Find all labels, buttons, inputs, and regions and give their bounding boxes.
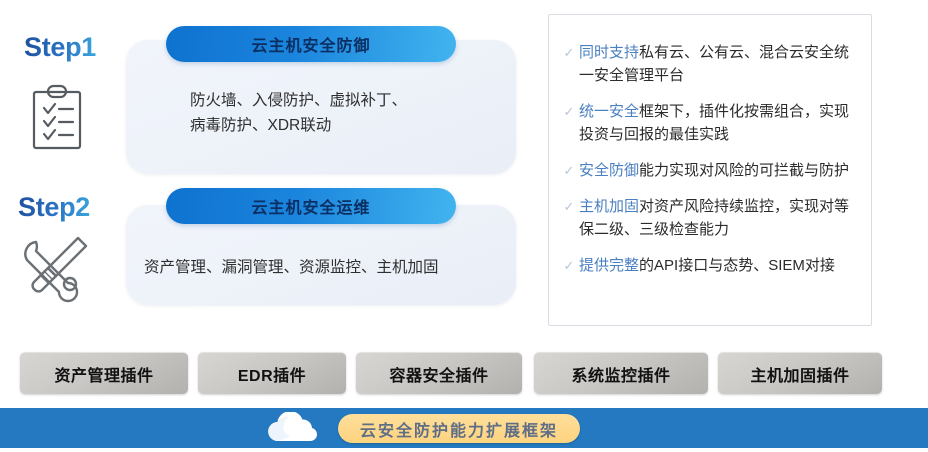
benefit-item-highlight: 主机加固	[579, 198, 639, 215]
benefit-item: ✓同时支持私有云、公有云、混合云安全统一安全管理平台	[559, 41, 857, 87]
plugin-button-asset-management[interactable]: 资产管理插件	[20, 352, 188, 394]
check-icon: ✓	[559, 100, 579, 123]
benefit-item-highlight: 同时支持	[579, 44, 639, 61]
wrench-screwdriver-icon	[18, 228, 98, 311]
plugin-button-container-security[interactable]: 容器安全插件	[356, 352, 522, 394]
step2-label: Step2	[18, 192, 90, 223]
card-ops-title: 云主机安全运维	[251, 194, 370, 218]
banner-pill: 云安全防护能力扩展框架	[338, 414, 580, 443]
benefit-item: ✓主机加固对资产风险持续监控，实现对等保二级、三级检查能力	[559, 195, 857, 241]
banner-pill-label: 云安全防护能力扩展框架	[360, 417, 558, 441]
benefit-item-text: 提供完整的API接口与态势、SIEM对接	[579, 254, 857, 277]
benefit-item-highlight: 提供完整	[579, 257, 639, 274]
plugin-button-system-monitoring[interactable]: 系统监控插件	[534, 352, 708, 394]
check-icon: ✓	[559, 254, 579, 277]
benefit-item: ✓提供完整的API接口与态势、SIEM对接	[559, 254, 857, 277]
cloud-icon	[262, 412, 328, 449]
card-ops-header: 云主机安全运维	[166, 188, 456, 224]
step1-label: Step1	[24, 32, 96, 63]
benefit-item: ✓统一安全框架下，插件化按需组合，实现投资与回报的最佳实践	[559, 100, 857, 146]
benefit-item: ✓安全防御能力实现对风险的可拦截与防护	[559, 159, 857, 182]
benefit-item-text: 安全防御能力实现对风险的可拦截与防护	[579, 159, 857, 182]
benefit-item-highlight: 安全防御	[579, 162, 639, 179]
plugin-button-edr[interactable]: EDR插件	[198, 352, 346, 394]
card-defense-body: 防火墙、入侵防护、虚拟补丁、 病毒防护、XDR联动	[190, 88, 490, 138]
plugin-button-label: 系统监控插件	[571, 362, 670, 386]
benefit-item-rest: 的API接口与态势、SIEM对接	[639, 257, 835, 274]
card-defense-title: 云主机安全防御	[251, 32, 370, 56]
bottom-banner: 云安全防护能力扩展框架	[0, 408, 928, 448]
plugin-button-host-hardening[interactable]: 主机加固插件	[718, 352, 882, 394]
benefits-panel: ✓同时支持私有云、公有云、混合云安全统一安全管理平台✓统一安全框架下，插件化按需…	[548, 14, 872, 326]
benefit-item-text: 同时支持私有云、公有云、混合云安全统一安全管理平台	[579, 41, 857, 87]
benefit-item-rest: 能力实现对风险的可拦截与防护	[639, 162, 849, 179]
plugin-button-label: 资产管理插件	[54, 362, 153, 386]
benefit-item-text: 主机加固对资产风险持续监控，实现对等保二级、三级检查能力	[579, 195, 857, 241]
check-icon: ✓	[559, 41, 579, 64]
benefit-item-highlight: 统一安全	[579, 103, 639, 120]
check-icon: ✓	[559, 159, 579, 182]
plugin-button-label: 容器安全插件	[389, 362, 488, 386]
benefit-item-text: 统一安全框架下，插件化按需组合，实现投资与回报的最佳实践	[579, 100, 857, 146]
card-ops-body: 资产管理、漏洞管理、资源监控、主机加固	[144, 255, 504, 280]
clipboard-checklist-icon	[26, 82, 88, 157]
card-defense-header: 云主机安全防御	[166, 26, 456, 62]
plugin-button-label: EDR插件	[238, 362, 306, 386]
check-icon: ✓	[559, 195, 579, 218]
plugin-button-label: 主机加固插件	[750, 362, 849, 386]
